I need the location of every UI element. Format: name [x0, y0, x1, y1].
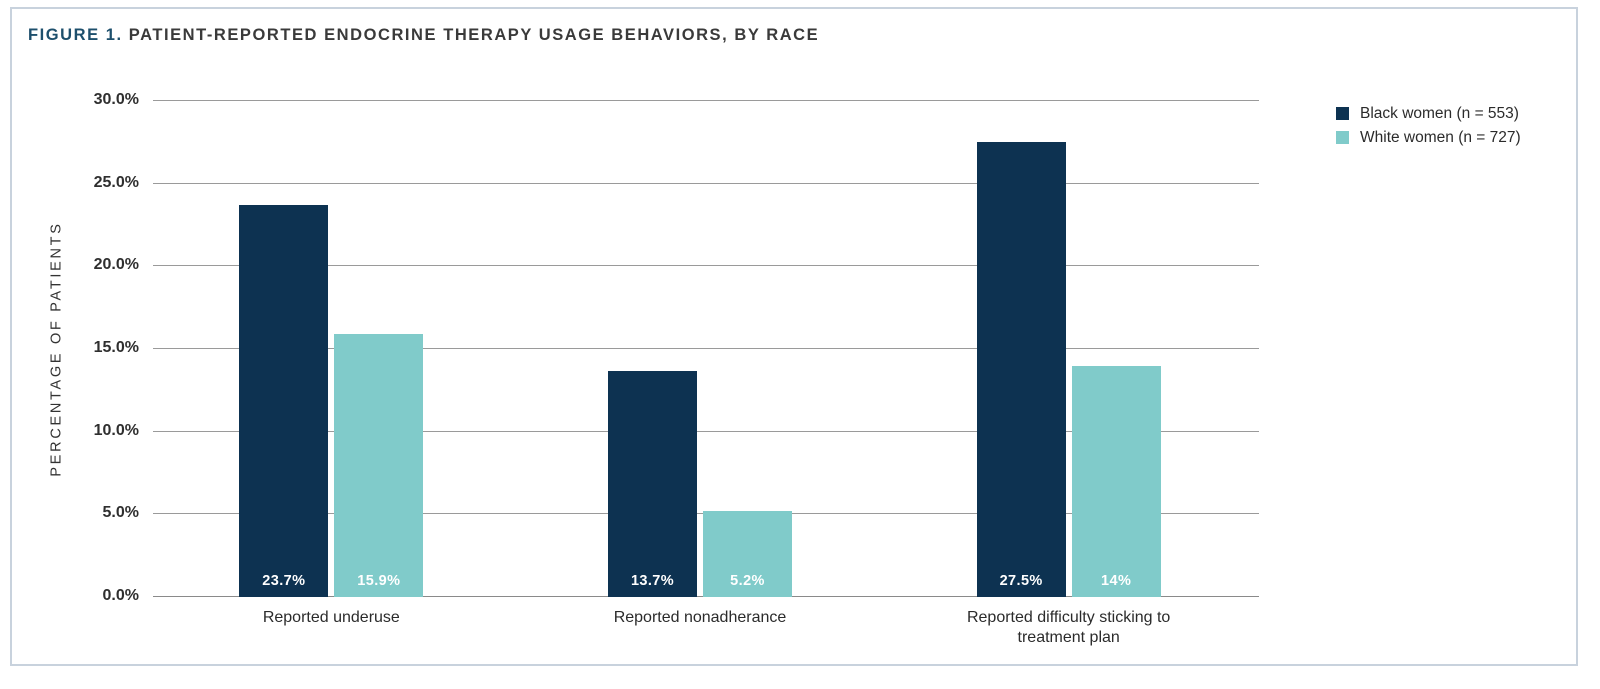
bar-value-label: 15.9% [334, 573, 423, 589]
bar: 15.9% [334, 334, 423, 597]
x-axis-category-label: Reported difficulty sticking totreatment… [884, 608, 1253, 649]
y-axis-title: PERCENTAGE OF PATIENTS [46, 101, 68, 597]
gridline: 30.0% [153, 100, 1259, 101]
legend-item[interactable]: White women (n = 727) [1336, 127, 1521, 148]
x-axis-category-label-line: Reported nonadherance [516, 608, 885, 628]
y-axis-tick-label: 0.0% [103, 587, 139, 605]
bar: 5.2% [703, 511, 792, 597]
bar-value-label: 13.7% [608, 573, 697, 589]
bar: 13.7% [608, 371, 697, 598]
bar: 27.5% [977, 142, 1066, 597]
plot-area: 0.0%5.0%10.0%15.0%20.0%25.0%30.0% 23.7%1… [153, 101, 1259, 597]
x-axis-category-label-line: treatment plan [884, 628, 1253, 648]
x-axis-category-label-line: Reported underuse [147, 608, 516, 628]
legend-item-label: Black women (n = 553) [1360, 105, 1519, 123]
figure-panel: FIGURE 1. PATIENT-REPORTED ENDOCRINE THE… [10, 7, 1578, 666]
y-axis-tick-label: 20.0% [94, 256, 139, 274]
gridline: 25.0% [153, 183, 1259, 184]
x-axis-category-label: Reported underuse [147, 608, 516, 628]
legend-swatch-icon [1336, 107, 1349, 120]
y-axis-tick-label: 10.0% [94, 422, 139, 440]
y-axis-tick-label: 25.0% [94, 174, 139, 192]
bar-value-label: 27.5% [977, 573, 1066, 589]
legend-item-label: White women (n = 727) [1360, 129, 1521, 147]
x-axis-category-label: Reported nonadherance [516, 608, 885, 628]
y-axis-tick-label: 15.0% [94, 339, 139, 357]
bar: 14% [1072, 366, 1161, 597]
chart-container: PERCENTAGE OF PATIENTS 0.0%5.0%10.0%15.0… [12, 9, 1576, 664]
chart-legend: Black women (n = 553)White women (n = 72… [1336, 103, 1521, 151]
bar-value-label: 23.7% [239, 573, 328, 589]
y-axis-tick-label: 30.0% [94, 91, 139, 109]
y-axis-title-label: PERCENTAGE OF PATIENTS [49, 221, 65, 476]
bar-value-label: 5.2% [703, 573, 792, 589]
bar: 23.7% [239, 205, 328, 597]
x-axis-category-label-line: Reported difficulty sticking to [884, 608, 1253, 628]
y-axis-tick-label: 5.0% [103, 504, 139, 522]
bar-value-label: 14% [1072, 573, 1161, 589]
legend-swatch-icon [1336, 131, 1349, 144]
legend-item[interactable]: Black women (n = 553) [1336, 103, 1521, 124]
